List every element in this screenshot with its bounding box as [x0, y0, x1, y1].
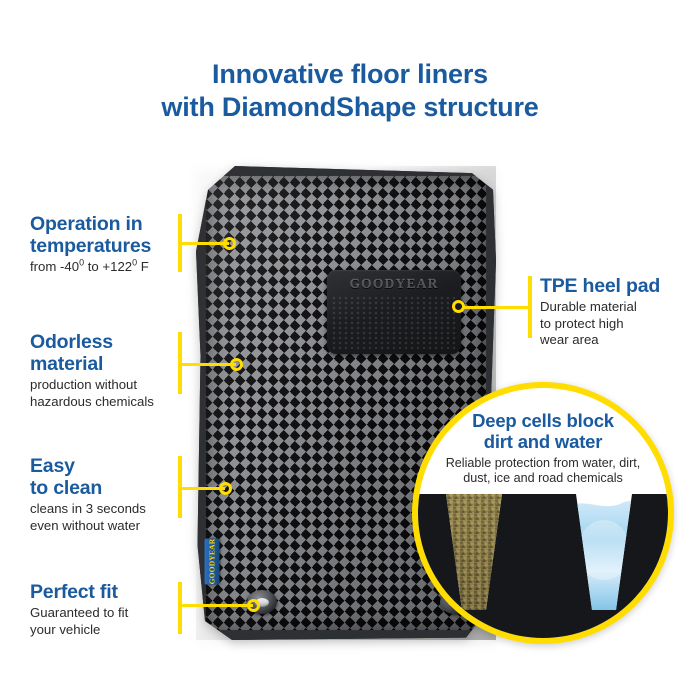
odorless-head-2: material: [30, 353, 103, 375]
annotation-heel-pad: TPE heel pad Durable material to protect…: [540, 275, 690, 349]
brand-tag-label: GOODYEAR: [208, 539, 217, 585]
callout-sub-2: dust, ice and road chemicals: [463, 471, 623, 485]
title-line-2: with DiamondShape structure: [0, 91, 700, 124]
heel-pad-head-1: TPE heel pad: [540, 275, 660, 297]
leader-line-temperature: [178, 242, 229, 245]
leader-dot-easy-clean: [219, 482, 232, 495]
leader-dot-heel-pad: [452, 300, 465, 313]
annotation-odorless: Odorless material production without haz…: [30, 331, 175, 410]
perfect-fit-sub-1: Guaranteed to fit: [30, 605, 128, 620]
leader-bar-perfect-fit: [178, 582, 182, 634]
odorless-head-1: Odorless: [30, 331, 113, 353]
easy-clean-sub-2: even without water: [30, 518, 140, 533]
leader-line-odorless: [178, 363, 236, 366]
infographic-canvas: Innovative floor liners with DiamondShap…: [0, 0, 700, 700]
odorless-sub-2: hazardous chemicals: [30, 394, 154, 409]
leader-line-perfect-fit: [178, 604, 253, 607]
callout-head-1: Deep cells block: [472, 410, 614, 431]
deep-cells-callout: Deep cells block dirt and water Reliable…: [412, 382, 674, 644]
callout-head-2: dirt and water: [484, 431, 603, 452]
temperature-sub: from -400 to +1220 F: [30, 259, 170, 276]
easy-clean-sub-1: cleans in 3 seconds: [30, 501, 146, 516]
callout-sub-1: Reliable protection from water, dirt,: [446, 456, 641, 470]
annotation-perfect-fit: Perfect fit Guaranteed to fit your vehic…: [30, 581, 170, 638]
leader-dot-temperature: [223, 237, 236, 250]
leader-dot-odorless: [230, 358, 243, 371]
heel-pad-sub-2: to protect high: [540, 316, 624, 331]
heel-pad-sub-1: Durable material: [540, 299, 637, 314]
temp-sub-mid: to +122: [84, 259, 132, 274]
title-line-1: Innovative floor liners: [212, 59, 488, 89]
heel-pad-sub-3: wear area: [540, 332, 599, 347]
cell-cross-section-diagram: [418, 492, 668, 638]
easy-clean-head-2: to clean: [30, 477, 102, 499]
tpe-heel-pad: GOODYEAR: [327, 270, 461, 354]
page-title: Innovative floor liners with DiamondShap…: [0, 58, 700, 124]
perfect-fit-head-1: Perfect fit: [30, 581, 118, 603]
leader-line-easy-clean: [178, 487, 225, 490]
temperature-head-1: Operation in: [30, 213, 142, 235]
temp-sub-prefix: from -40: [30, 259, 79, 274]
annotation-temperature: Operation in temperatures from -400 to +…: [30, 213, 170, 276]
annotation-easy-clean: Easy to clean cleans in 3 seconds even w…: [30, 455, 178, 534]
leader-line-heel-pad: [462, 306, 530, 309]
heel-pad-texture: [332, 296, 456, 349]
easy-clean-head-1: Easy: [30, 455, 75, 477]
goodyear-brand-tag: GOODYEAR: [205, 539, 220, 585]
temp-sub-suffix: F: [137, 259, 149, 274]
leader-dot-perfect-fit: [247, 599, 260, 612]
perfect-fit-sub-2: your vehicle: [30, 622, 100, 637]
heel-pad-goodyear-logo: GOODYEAR: [327, 276, 461, 292]
temperature-head-2: temperatures: [30, 235, 151, 257]
odorless-sub-1: production without: [30, 377, 137, 392]
